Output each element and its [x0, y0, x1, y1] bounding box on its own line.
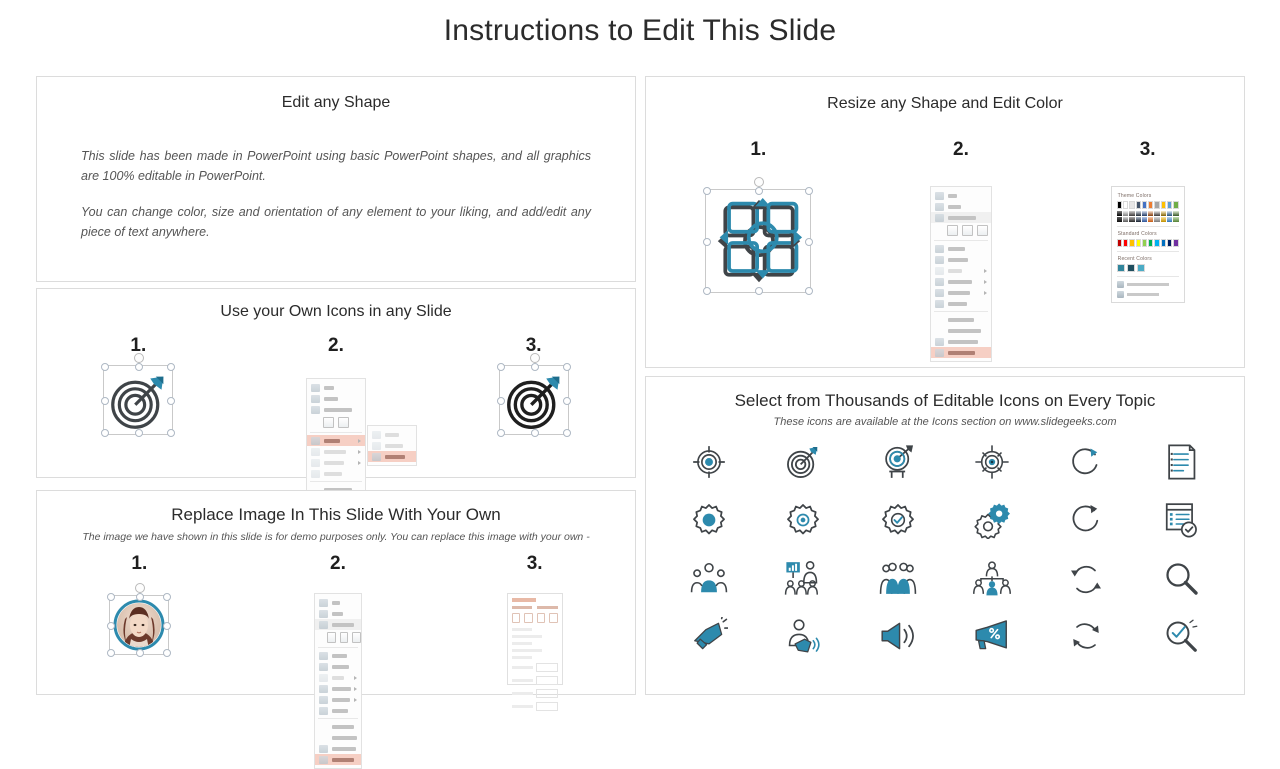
menu-item-paste-options[interactable] [931, 212, 991, 223]
edit-shape-paragraph-2: You can change color, size and orientati… [81, 202, 591, 242]
magnifier-icon [1163, 560, 1199, 596]
four-square-shape-selected-art[interactable] [705, 189, 811, 293]
target-dart-ungrouped-art[interactable] [499, 365, 569, 435]
panel-editable-icons: Select from Thousands of Editable Icons … [645, 376, 1245, 695]
context-menu-format-shape-art[interactable] [930, 186, 992, 362]
icon-cell[interactable] [662, 556, 756, 600]
portrait-avatar-icon [113, 599, 165, 651]
icon-cell[interactable] [756, 498, 850, 542]
menu-item-save-as-picture[interactable] [931, 314, 991, 325]
context-menu[interactable] [930, 186, 992, 362]
four-square-resize-icon [714, 198, 804, 286]
paste-icon[interactable] [323, 417, 334, 428]
icon-cell[interactable] [945, 498, 1039, 542]
refresh-clockwise-icon [1068, 444, 1104, 480]
menu-item-paste-options[interactable] [315, 619, 361, 630]
icon-cell[interactable] [1039, 614, 1133, 658]
icon-cell[interactable] [662, 498, 756, 542]
submenu-item-group[interactable] [368, 429, 416, 440]
menu-item-hyperlink[interactable] [307, 468, 365, 479]
step-number: 2. [330, 553, 346, 575]
resize-color-step-3: 3. Theme Colors [1111, 139, 1185, 303]
eyedropper-option[interactable] [1117, 291, 1179, 298]
megaphone-icon [690, 617, 728, 655]
icon-cell[interactable] [756, 440, 850, 484]
panel-replace-image: Replace Image In This Slide With Your Ow… [36, 490, 636, 695]
format-picture-pane-art[interactable] [507, 593, 563, 685]
panel-edit-any-shape: Edit any Shape This slide has been made … [36, 76, 636, 282]
icon-cell[interactable] [851, 440, 945, 484]
menu-item-bring-to-front[interactable] [315, 683, 361, 694]
theme-tints-grid[interactable] [1117, 211, 1179, 216]
icon-cell[interactable] [662, 614, 756, 658]
context-menu-format-picture-art[interactable] [314, 593, 362, 769]
standard-colors-row[interactable] [1117, 239, 1179, 247]
panel-heading-resize-color: Resize any Shape and Edit Color [646, 95, 1244, 113]
paste-picture-icon[interactable] [977, 225, 988, 236]
person-megaphone-icon [784, 617, 822, 655]
menu-item-paste-options[interactable] [307, 404, 365, 415]
gear-center-icon [784, 501, 822, 539]
theme-colors-row[interactable] [1117, 201, 1179, 209]
paste-option-icons[interactable] [931, 223, 991, 238]
magnifier-check-icon [1163, 618, 1199, 654]
step-number: 1. [131, 553, 147, 575]
icon-cell[interactable] [1134, 614, 1228, 658]
replace-image-step-3: 3. [507, 553, 563, 685]
menu-item-edit-text[interactable] [315, 650, 361, 661]
menu-item-hyperlink[interactable] [315, 705, 361, 716]
panel-heading-icons-topic: Select from Thousands of Editable Icons … [646, 391, 1244, 411]
icon-cell[interactable] [1134, 556, 1228, 600]
gear-check-icon [879, 501, 917, 539]
replace-image-step-2: 2. [314, 553, 362, 769]
paste-icon[interactable] [947, 225, 958, 236]
paste-picture-icon[interactable] [352, 632, 361, 643]
color-picker[interactable]: Theme Colors [1111, 186, 1185, 303]
menu-item-hyperlink[interactable] [931, 298, 991, 309]
target-dart-icon [109, 371, 169, 431]
paste-picture-icon[interactable] [338, 417, 349, 428]
menu-item-send-to-back[interactable] [931, 287, 991, 298]
icon-cell[interactable] [662, 440, 756, 484]
portrait-circle-selected-art[interactable] [109, 595, 169, 655]
pane-title [512, 598, 536, 602]
palette-icon [1117, 281, 1124, 288]
icon-cell[interactable] [756, 614, 850, 658]
team-crowd-icon [879, 559, 917, 597]
menu-item-edit-text[interactable] [931, 243, 991, 254]
menu-item-format-shape[interactable] [931, 347, 991, 358]
theme-colors-label: Theme Colors [1118, 193, 1179, 199]
replace-image-step-1: 1. [109, 553, 169, 655]
recent-colors-label: Recent Colors [1118, 256, 1179, 262]
target-stand-icon [879, 443, 917, 481]
context-submenu-group[interactable] [367, 425, 417, 466]
paste-option-icons[interactable] [315, 630, 361, 645]
paste-style-icon[interactable] [340, 632, 349, 643]
menu-item-send-to-back[interactable] [307, 457, 365, 468]
menu-item-size-and-position[interactable] [931, 336, 991, 347]
icon-cell[interactable] [851, 614, 945, 658]
icon-cell[interactable] [851, 556, 945, 600]
color-picker-art[interactable]: Theme Colors [1111, 186, 1185, 303]
own-icons-step-1: 1. [103, 335, 173, 435]
checklist-document-icon [1164, 443, 1198, 481]
step-number: 2. [328, 335, 344, 357]
crosshair-scope-icon [973, 443, 1011, 481]
edit-shape-paragraph-1: This slide has been made in PowerPoint u… [81, 146, 591, 186]
target-dart-selected-art[interactable] [103, 365, 173, 435]
menu-item-cut[interactable] [315, 597, 361, 608]
step-number: 3. [527, 553, 543, 575]
icon-cell[interactable] [1039, 556, 1133, 600]
paste-icon[interactable] [327, 632, 336, 643]
menu-item-bring-to-front[interactable] [307, 446, 365, 457]
pane-tabs[interactable] [512, 606, 558, 609]
panel-heading-replace-image: Replace Image In This Slide With Your Ow… [37, 505, 635, 525]
standard-colors-label: Standard Colors [1118, 231, 1179, 237]
menu-item-copy[interactable] [931, 201, 991, 212]
menu-item-copy[interactable] [315, 608, 361, 619]
menu-item-set-as-default-shape[interactable] [931, 325, 991, 336]
icon-gallery [646, 440, 1244, 658]
menu-item-set-as-default-shape[interactable] [315, 732, 361, 743]
submenu-item-ungroup[interactable] [368, 451, 416, 462]
icon-cell[interactable] [945, 556, 1039, 600]
menu-item-bring-to-front[interactable] [931, 276, 991, 287]
menu-item-format-picture[interactable] [315, 754, 361, 765]
context-menu[interactable] [314, 593, 362, 769]
step-number: 3. [1140, 139, 1156, 161]
menu-item-edit-points[interactable] [931, 254, 991, 265]
target-crosshair-icon [690, 443, 728, 481]
paste-option-icons[interactable] [307, 415, 365, 430]
sync-arrows-icon [1068, 560, 1104, 596]
pane-toolbar[interactable] [512, 613, 558, 623]
icon-cell[interactable] [1039, 498, 1133, 542]
icon-cell[interactable] [945, 614, 1039, 658]
people-group-icon [690, 559, 728, 597]
theme-tints-grid-2[interactable] [1117, 217, 1179, 222]
menu-item-group[interactable] [315, 672, 361, 683]
recent-colors-row[interactable] [1117, 264, 1179, 272]
icon-cell[interactable] [1134, 440, 1228, 484]
step-number: 1. [750, 139, 766, 161]
icon-cell[interactable] [1039, 440, 1133, 484]
paste-style-icon[interactable] [962, 225, 973, 236]
panel-subheading-icons-topic: These icons are available at the Icons s… [646, 416, 1244, 428]
icon-cell[interactable] [945, 440, 1039, 484]
double-gear-icon [973, 501, 1011, 539]
slide-root: Instructions to Edit This Slide Edit any… [0, 0, 1280, 720]
panel-heading-edit-shape: Edit any Shape [37, 94, 635, 112]
target-dart-icon [505, 371, 565, 431]
format-picture-pane[interactable] [507, 593, 563, 685]
cycle-arrows-icon [1068, 618, 1104, 654]
page-title: Instructions to Edit This Slide [0, 14, 1280, 48]
menu-item-group[interactable] [931, 265, 991, 276]
menu-item-group[interactable] [307, 435, 365, 446]
own-icons-step-3: 3. [499, 335, 569, 435]
menu-item-copy[interactable] [307, 393, 365, 404]
panel-subheading-replace-image: The image we have shown in this slide is… [37, 531, 635, 543]
icon-cell[interactable] [851, 498, 945, 542]
resize-color-step-2: 2. [930, 139, 992, 362]
menu-item-send-to-back[interactable] [315, 694, 361, 705]
menu-item-save-as-picture[interactable] [315, 721, 361, 732]
panel-use-own-icons: Use your Own Icons in any Slide 1. [36, 288, 636, 478]
more-colors-option[interactable] [1117, 281, 1179, 288]
step-number: 2. [953, 139, 969, 161]
dartboard-arrow-icon [784, 443, 822, 481]
panel-resize-shape-edit-color: Resize any Shape and Edit Color 1. [645, 76, 1245, 368]
menu-item-edit-points[interactable] [315, 661, 361, 672]
eyedropper-icon [1117, 291, 1124, 298]
reload-circular-icon [1068, 502, 1104, 538]
resize-color-step-1: 1. [705, 139, 811, 293]
menu-item-cut[interactable] [931, 190, 991, 201]
icon-cell[interactable] [756, 556, 850, 600]
panel-heading-own-icons: Use your Own Icons in any Slide [37, 303, 635, 321]
menu-item-cut[interactable] [307, 382, 365, 393]
presentation-team-icon [784, 559, 822, 597]
icon-cell[interactable] [1134, 498, 1228, 542]
loudspeaker-icon [879, 619, 917, 653]
megaphone-percent-icon [973, 619, 1011, 653]
team-network-icon [973, 559, 1011, 597]
submenu-item-regroup[interactable] [368, 440, 416, 451]
menu-item-size-and-position[interactable] [315, 743, 361, 754]
checklist-approved-icon [1163, 501, 1199, 539]
gear-solid-icon [690, 501, 728, 539]
